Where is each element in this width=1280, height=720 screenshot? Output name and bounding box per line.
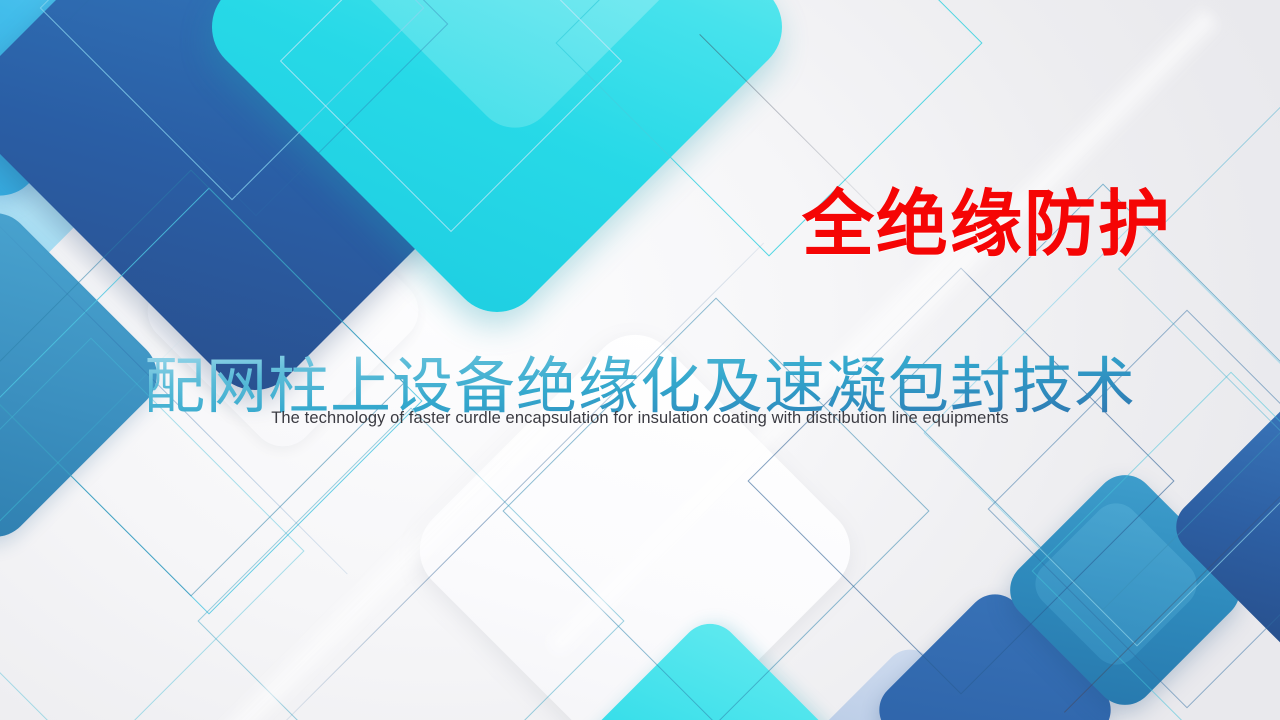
slide-text-layer: 全绝缘防护 配网柱上设备绝缘化及速凝包封技术 The technology of… bbox=[0, 0, 1280, 720]
headline-red-title: 全绝缘防护 bbox=[802, 186, 1172, 265]
page-subtitle: The technology of faster curdle encapsul… bbox=[271, 409, 1009, 428]
title-slide: 全绝缘防护 配网柱上设备绝缘化及速凝包封技术 The technology of… bbox=[0, 0, 1280, 720]
